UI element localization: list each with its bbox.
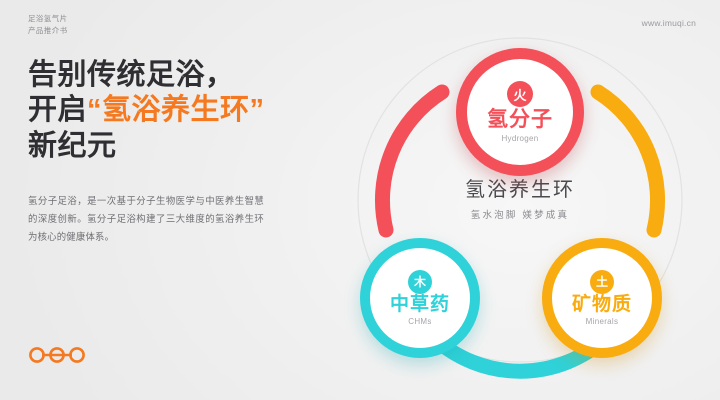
headline-line-1: 告别传统足浴， <box>28 58 358 93</box>
node-minerals-subtitle: Minerals <box>586 317 619 326</box>
badge-fire-icon: 火 <box>507 81 533 107</box>
node-chms-title: 中草药 <box>390 295 450 316</box>
headline-line-2: 开启“氢浴养生环” <box>28 93 358 128</box>
document-kicker: 足浴氢气片 产品推介书 <box>28 13 68 36</box>
node-hydrogen[interactable]: 火 氢分子 Hydrogen <box>456 48 584 176</box>
node-minerals[interactable]: 土 矿物质 Minerals <box>542 238 662 358</box>
node-hydrogen-subtitle: Hydrogen <box>501 134 538 143</box>
three-dot-logo-icon <box>28 345 86 370</box>
node-minerals-title: 矿物质 <box>572 295 632 316</box>
arc-hydrogen-to-minerals <box>598 92 658 230</box>
headline-accent: “氢浴养生环” <box>87 94 265 126</box>
body-paragraph: 氢分子足浴，是一次基于分子生物医学与中医养生智慧的深度创新。氢分子足浴构建了三大… <box>28 192 264 246</box>
headline-line-3: 新纪元 <box>28 129 358 164</box>
wellness-ring-diagram: 氢浴养生环 氢水泡脚 媄梦成真 火 氢分子 Hydrogen 木 中草药 CHM… <box>330 30 710 390</box>
node-hydrogen-title: 氢分子 <box>487 108 553 131</box>
page-title: 告别传统足浴， 开启“氢浴养生环” 新纪元 <box>28 58 358 164</box>
node-chms[interactable]: 木 中草药 CHMs <box>360 238 480 358</box>
node-chms-subtitle: CHMs <box>408 317 431 326</box>
headline-line-2-prefix: 开启 <box>28 94 87 126</box>
slide-canvas: 足浴氢气片 产品推介书 www.imuqi.cn 告别传统足浴， 开启“氢浴养生… <box>0 0 720 400</box>
badge-earth-icon: 土 <box>590 270 614 294</box>
badge-wood-icon: 木 <box>408 270 432 294</box>
arc-hydrogen-to-chms <box>382 92 442 230</box>
site-url: www.imuqi.cn <box>642 18 696 28</box>
